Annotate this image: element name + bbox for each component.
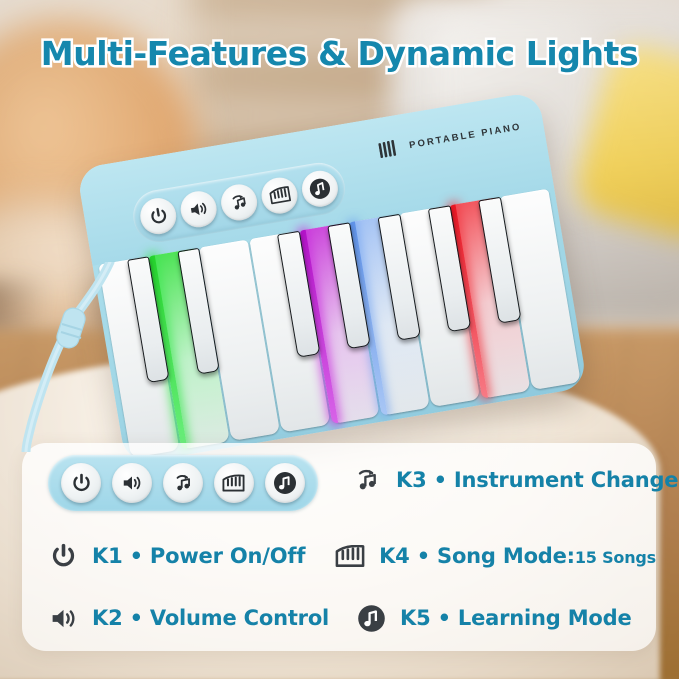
- legend-item-k1: K1 • Power On/Off: [22, 541, 331, 571]
- instrument-change-button-ref[interactable]: [163, 463, 203, 503]
- power-button[interactable]: [137, 195, 178, 236]
- legend-item-k4: K4 • Song Mode:15 Songs: [331, 541, 656, 571]
- learning-mode-button[interactable]: [299, 168, 340, 209]
- legend-label-k3: K3 • Instrument Change: [396, 468, 678, 492]
- song-mode-button-ref[interactable]: [214, 463, 254, 503]
- feature-legend-panel: K3 • Instrument Change K1 • Power On/Off: [22, 443, 656, 651]
- legend-row: K2 • Volume Control K5 • Learning Mode: [22, 587, 656, 649]
- piano-keys-icon: [378, 139, 401, 159]
- legend-label-k2: K2 • Volume Control: [92, 606, 329, 630]
- power-button-ref[interactable]: [61, 463, 101, 503]
- learning-mode-button-ref[interactable]: [265, 463, 305, 503]
- headline-title: Multi-Features & Dynamic Lights: [0, 34, 679, 73]
- piano-keys-icon: [335, 541, 365, 571]
- music-note-circle-icon: [307, 176, 332, 201]
- usb-cable: [18, 262, 138, 452]
- power-icon: [48, 541, 78, 571]
- music-note-circle-icon: [273, 471, 297, 495]
- legend-rows: K1 • Power On/Off: [22, 525, 656, 649]
- music-note-circle-icon: [356, 603, 386, 633]
- volume-icon: [121, 472, 143, 494]
- legend-label-k4: K4 • Song Mode:15 Songs: [379, 544, 656, 568]
- volume-icon: [48, 603, 78, 633]
- legend-row: K1 • Power On/Off: [22, 525, 656, 587]
- instrument-change-icon: [172, 472, 194, 494]
- legend-item-k5: K5 • Learning Mode: [352, 603, 632, 633]
- legend-item-k3: K3 • Instrument Change: [352, 465, 678, 495]
- instrument-change-button[interactable]: [218, 182, 259, 223]
- product-marketing-image: Multi-Features & Dynamic Lights POR: [0, 0, 679, 679]
- volume-button-ref[interactable]: [112, 463, 152, 503]
- instrument-change-icon: [228, 191, 251, 214]
- legend-label-k5: K5 • Learning Mode: [400, 606, 632, 630]
- legend-label-k1: K1 • Power On/Off: [92, 544, 305, 568]
- button-reference-chip: [48, 455, 318, 511]
- instrument-change-icon: [352, 465, 382, 495]
- piano-keys-icon: [268, 185, 292, 206]
- legend-item-k2: K2 • Volume Control: [22, 603, 352, 633]
- power-icon: [147, 205, 169, 227]
- volume-icon: [187, 198, 210, 221]
- piano-keys-icon: [222, 474, 245, 493]
- power-icon: [71, 473, 92, 494]
- song-mode-button[interactable]: [259, 175, 300, 216]
- volume-button[interactable]: [178, 189, 219, 230]
